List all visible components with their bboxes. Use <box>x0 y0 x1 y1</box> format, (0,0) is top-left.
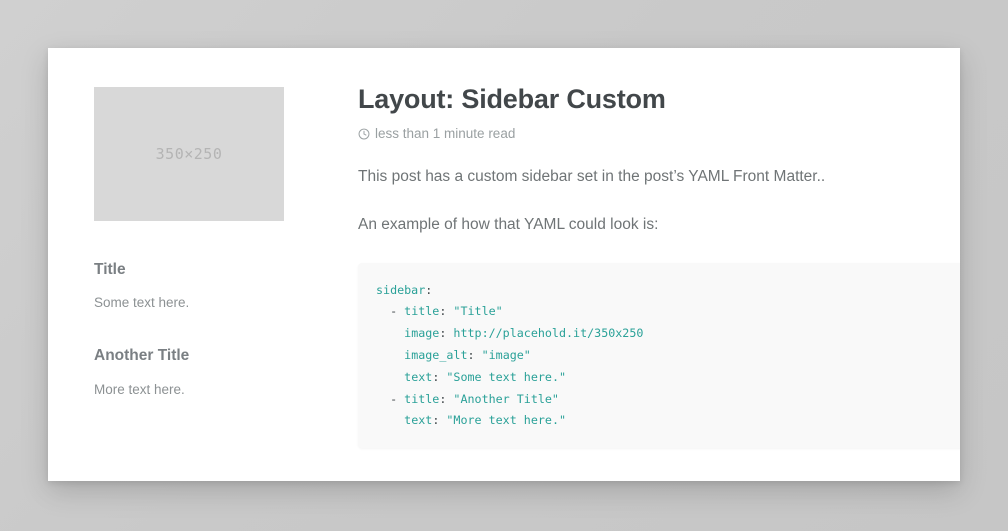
page-root: 350×250 Title Some text here. Another Ti… <box>0 0 1008 531</box>
post-main: Layout: Sidebar Custom less than 1 minut… <box>358 84 960 448</box>
post-sidebar: 350×250 Title Some text here. Another Ti… <box>94 87 290 400</box>
sidebar-placeholder-image: 350×250 <box>94 87 284 221</box>
sidebar-block-another-title: Another Title More text here. <box>94 347 290 399</box>
page-title: Layout: Sidebar Custom <box>358 84 960 115</box>
sidebar-block-title: Title Some text here. <box>94 261 290 312</box>
page-card: 350×250 Title Some text here. Another Ti… <box>48 48 960 481</box>
placeholder-size-label: 350×250 <box>94 145 284 163</box>
post-paragraph-2: An example of how that YAML could look i… <box>358 213 960 236</box>
read-time-label: less than 1 minute read <box>375 126 515 141</box>
sidebar-heading-another-title: Another Title <box>94 347 290 366</box>
clock-icon <box>358 128 370 140</box>
sidebar-heading-title: Title <box>94 261 290 280</box>
code-block: sidebar: - title: "Title" image: http://… <box>358 263 960 449</box>
page-content: 350×250 Title Some text here. Another Ti… <box>48 48 960 481</box>
sidebar-text-title: Some text here. <box>94 294 290 313</box>
code-block-content: sidebar: - title: "Title" image: http://… <box>376 280 954 433</box>
post-meta: less than 1 minute read <box>358 126 960 141</box>
post-paragraph-1: This post has a custom sidebar set in th… <box>358 165 960 188</box>
sidebar-text-another-title: More text here. <box>94 381 290 400</box>
